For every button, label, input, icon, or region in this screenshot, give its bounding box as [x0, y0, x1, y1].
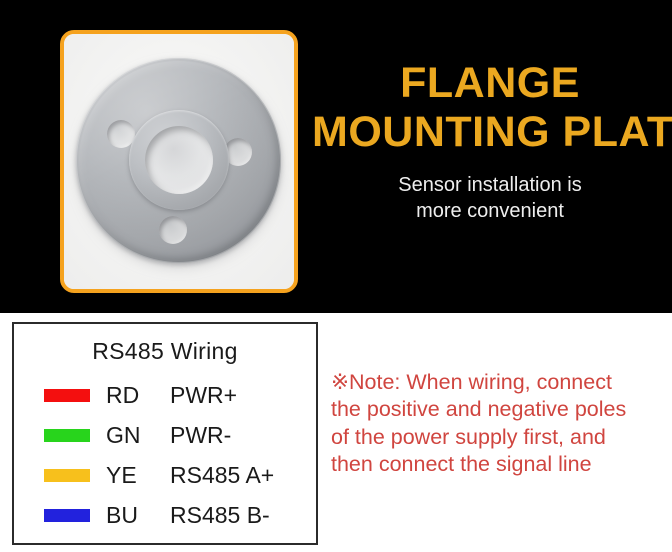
bolt-hole-icon: [107, 120, 135, 148]
wire-function: RS485 B-: [170, 502, 270, 529]
flange-bore: [145, 126, 213, 194]
hero-title-line-1: FLANGE: [312, 62, 668, 105]
wire-color-cell: [14, 469, 106, 482]
product-photo-frame: [60, 30, 298, 293]
wiring-table-title: RS485 Wiring: [14, 338, 316, 365]
hero-subtitle: Sensor installation is more convenient: [312, 172, 668, 224]
wire-color-swatch: [44, 469, 90, 482]
wire-code: RD: [106, 382, 170, 409]
hero-subtitle-line-2: more convenient: [312, 198, 668, 224]
wire-code: YE: [106, 462, 170, 489]
flange-hub: [129, 110, 229, 210]
table-row: RD PWR+: [14, 375, 316, 415]
wire-color-swatch: [44, 429, 90, 442]
bolt-hole-icon: [159, 216, 187, 244]
wire-function: RS485 A+: [170, 462, 274, 489]
wire-code: GN: [106, 422, 170, 449]
product-photo: [64, 34, 294, 289]
wire-code: BU: [106, 502, 170, 529]
bolt-hole-icon: [224, 138, 252, 166]
wire-color-cell: [14, 389, 106, 402]
wiring-note-line-4: then connect the signal line: [331, 451, 667, 478]
wiring-table-body: RD PWR+ GN PWR- YE RS485 A+: [14, 375, 316, 535]
hero-title-line-2: MOUNTING PLATE: [312, 111, 668, 154]
wiring-table: RS485 Wiring RD PWR+ GN PWR-: [12, 322, 318, 545]
wire-color-swatch: [44, 509, 90, 522]
table-row: BU RS485 B-: [14, 495, 316, 535]
table-row: GN PWR-: [14, 415, 316, 455]
product-infographic: FLANGE MOUNTING PLATE Sensor installatio…: [0, 0, 672, 552]
wire-color-cell: [14, 509, 106, 522]
wiring-note-line-2: the positive and negative poles: [331, 396, 667, 423]
wire-function: PWR+: [170, 382, 237, 409]
bottom-section: RS485 Wiring RD PWR+ GN PWR-: [0, 313, 672, 552]
hero-subtitle-line-1: Sensor installation is: [312, 172, 668, 198]
flange-disc: [76, 58, 281, 263]
wiring-note-line-3: of the power supply first, and: [331, 424, 667, 451]
wire-color-swatch: [44, 389, 90, 402]
wiring-note-line-1: ※Note: When wiring, connect: [331, 369, 667, 396]
wiring-note: ※Note: When wiring, connect the positive…: [331, 369, 667, 478]
hero-section: FLANGE MOUNTING PLATE Sensor installatio…: [0, 0, 672, 313]
wire-function: PWR-: [170, 422, 231, 449]
hero-text-block: FLANGE MOUNTING PLATE Sensor installatio…: [312, 62, 668, 224]
flange-illustration: [73, 56, 285, 268]
wire-color-cell: [14, 429, 106, 442]
table-row: YE RS485 A+: [14, 455, 316, 495]
